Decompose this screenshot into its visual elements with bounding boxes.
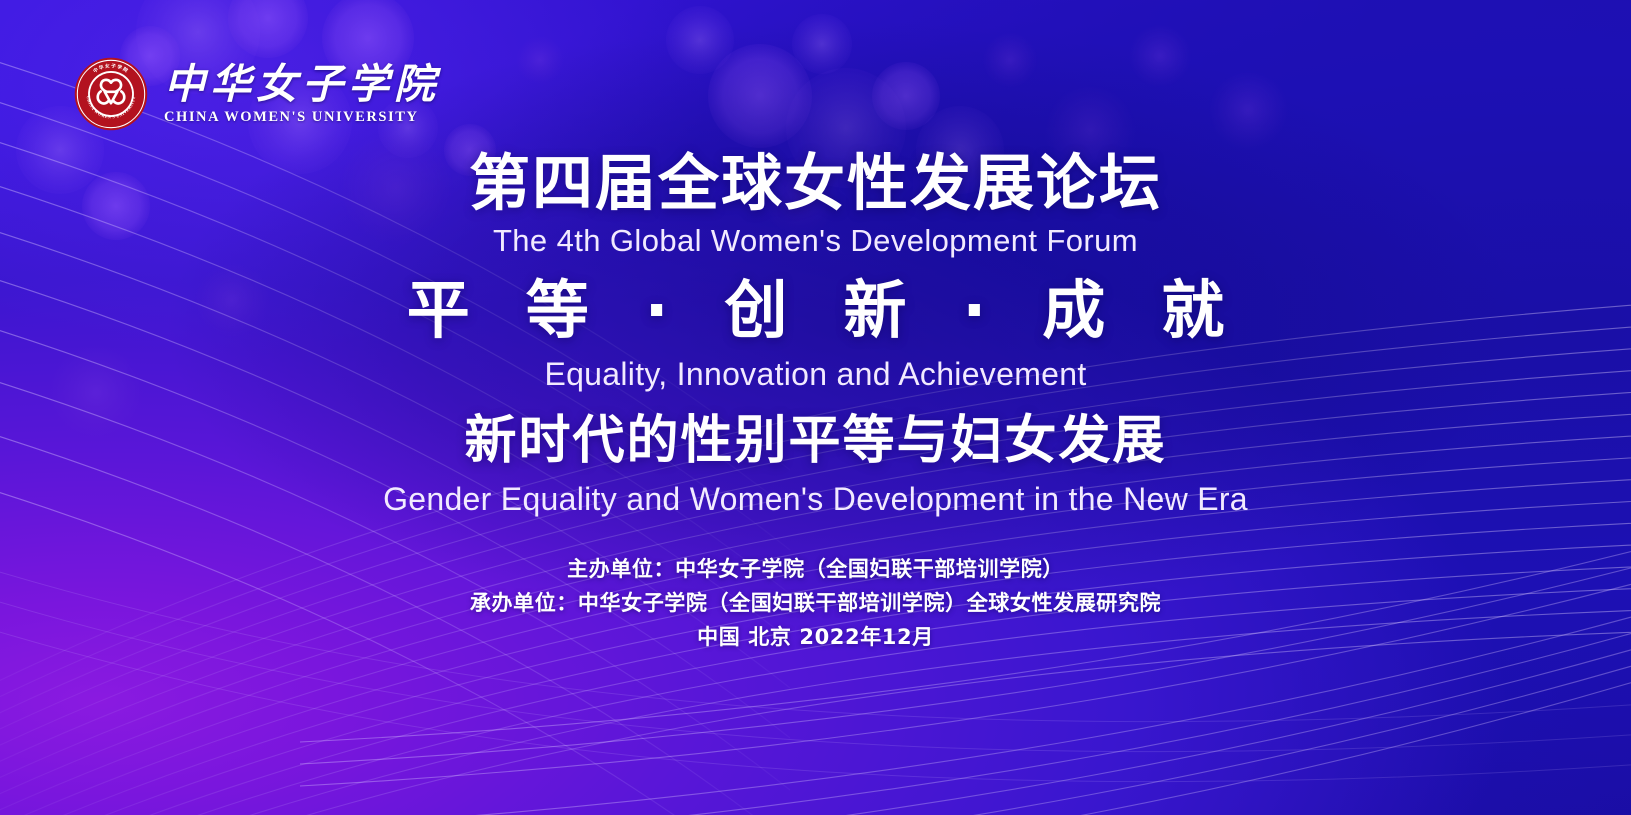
slogan-cn: 平 等 · 创 新 · 成 就 [0,271,1631,350]
conference-banner: 中华女子学院 CHINA WOMEN'S UNIVERSITY 中华女子学院 C… [0,0,1631,815]
organizing-institute: 承办单位：中华女子学院（全国妇联干部培训学院）全球女性发展研究院 [0,586,1631,620]
university-name: 中华女子学院 CHINA WOMEN'S UNIVERSITY [164,62,440,127]
organizer-block: 主办单位：中华女子学院（全国妇联干部培训学院） 承办单位：中华女子学院（全国妇联… [0,552,1631,654]
forum-title-cn: 第四届全球女性发展论坛 [0,150,1631,218]
host-organization: 主办单位：中华女子学院（全国妇联干部培训学院） [0,552,1631,586]
subtheme-cn: 新时代的性别平等与妇女发展 [0,408,1631,476]
subtheme-en: Gender Equality and Women's Development … [0,479,1631,521]
slogan-en: Equality, Innovation and Achievement [0,354,1631,396]
banner-headline-block: 第四届全球女性发展论坛 The 4th Global Women's Devel… [0,150,1631,520]
university-logo: 中华女子学院 CHINA WOMEN'S UNIVERSITY 中华女子学院 C… [74,57,440,131]
place-and-date: 中国 北京 2022年12月 [0,620,1631,654]
university-name-en: CHINA WOMEN'S UNIVERSITY [164,109,440,126]
university-name-cn: 中华女子学院 [164,64,440,106]
forum-title-en: The 4th Global Women's Development Forum [0,222,1631,261]
university-seal-icon: 中华女子学院 CHINA WOMEN'S UNIVERSITY [74,57,148,131]
